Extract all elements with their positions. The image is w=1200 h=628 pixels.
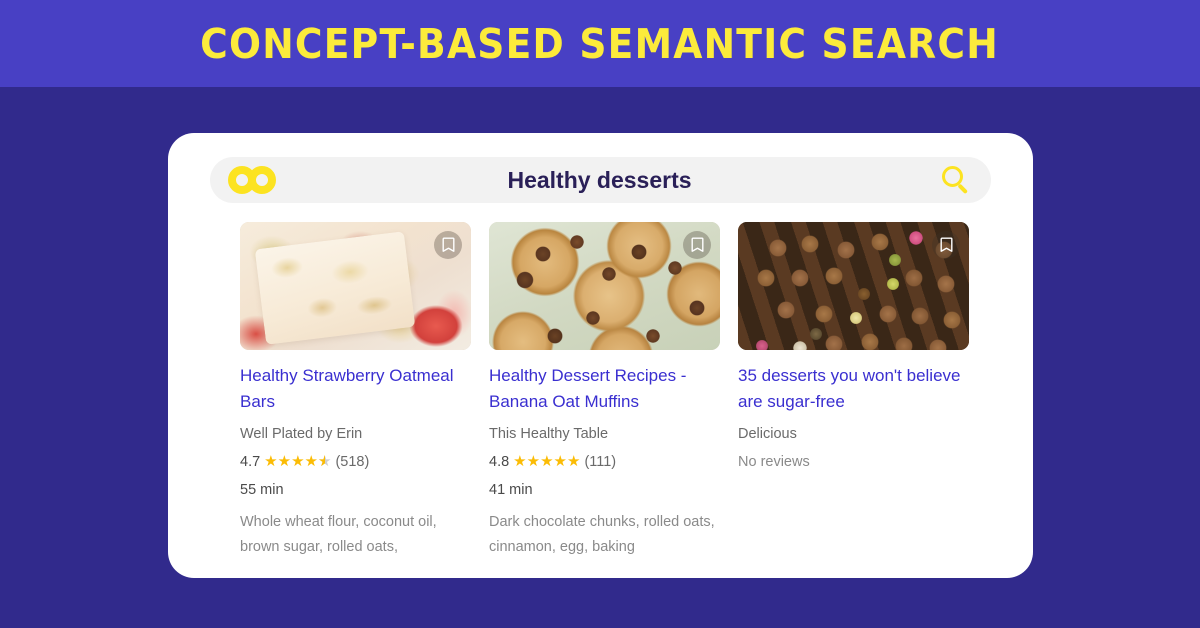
- result-card[interactable]: 35 desserts you won't believe are sugar-…: [738, 222, 969, 560]
- result-time: 55 min: [240, 481, 471, 500]
- rating-value: 4.8: [489, 453, 509, 472]
- result-title[interactable]: Healthy Dessert Recipes - Banana Oat Muf…: [489, 363, 720, 416]
- result-title[interactable]: Healthy Strawberry Oatmeal Bars: [240, 363, 471, 416]
- no-reviews-label: No reviews: [738, 453, 969, 472]
- result-card-list: Healthy Strawberry Oatmeal Bars Well Pla…: [240, 222, 970, 560]
- star-rating-icons: ★★★★★: [513, 454, 580, 469]
- result-card[interactable]: Healthy Strawberry Oatmeal Bars Well Pla…: [240, 222, 471, 560]
- result-source: Delicious: [738, 425, 969, 444]
- search-bar[interactable]: Healthy desserts: [210, 157, 991, 203]
- search-results-panel: Healthy desserts Healthy Strawberry O: [168, 133, 1033, 578]
- rating-value: 4.7: [240, 453, 260, 472]
- result-rating: 4.8 ★★★★★ (111): [489, 453, 720, 472]
- bookmark-icon[interactable]: [434, 231, 462, 259]
- result-source: This Healthy Table: [489, 425, 720, 444]
- review-count: (111): [584, 453, 616, 472]
- result-source: Well Plated by Erin: [240, 425, 471, 444]
- recipe-thumbnail[interactable]: [738, 222, 969, 350]
- result-ingredients: Dark chocolate chunks, rolled oats, cinn…: [489, 510, 720, 560]
- double-circle-logo-icon: [228, 166, 278, 194]
- search-input[interactable]: Healthy desserts: [258, 167, 941, 194]
- result-title[interactable]: 35 desserts you won't believe are sugar-…: [738, 363, 969, 416]
- bookmark-icon[interactable]: [683, 231, 711, 259]
- page-title: Concept-Based Semantic Search: [201, 20, 1000, 68]
- result-rating: 4.7 ★★★★★★ (518): [240, 453, 471, 472]
- screenshot-root: Concept-Based Semantic Search Healthy de…: [0, 0, 1200, 628]
- bookmark-icon[interactable]: [932, 231, 960, 259]
- result-time: 41 min: [489, 481, 720, 500]
- recipe-thumbnail[interactable]: [489, 222, 720, 350]
- review-count: (518): [335, 453, 369, 472]
- result-card[interactable]: Healthy Dessert Recipes - Banana Oat Muf…: [489, 222, 720, 560]
- recipe-thumbnail[interactable]: [240, 222, 471, 350]
- star-rating-icons: ★★★★★★: [264, 454, 331, 469]
- result-ingredients: Whole wheat flour, coconut oil, brown su…: [240, 510, 471, 560]
- search-icon[interactable]: [941, 165, 971, 195]
- header-banner: Concept-Based Semantic Search: [0, 0, 1200, 87]
